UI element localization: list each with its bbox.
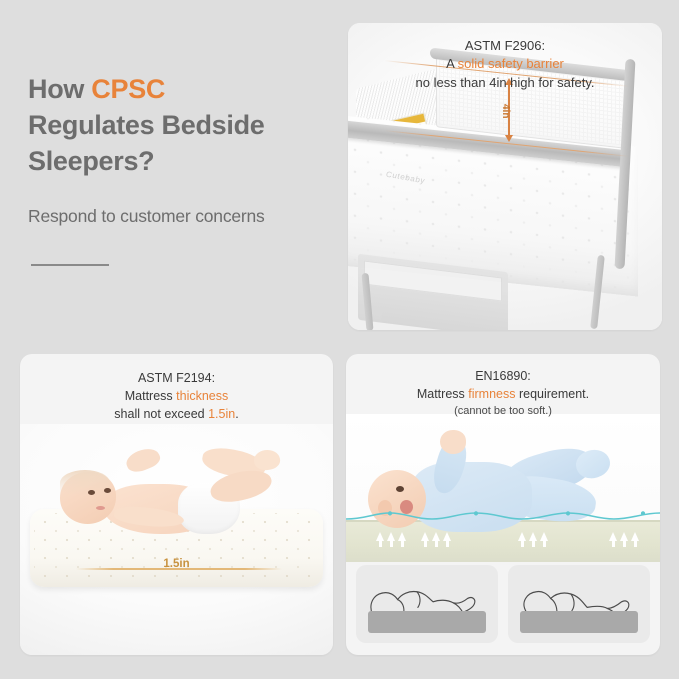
baby-eye — [396, 486, 404, 492]
arrow-up-icon — [620, 532, 628, 541]
firmness-caption-line-2: Mattress firmness requirement. — [346, 386, 660, 404]
thickness-standard-code: ASTM F2194: — [20, 370, 333, 388]
arrow-up-icon — [529, 532, 537, 541]
title-divider — [31, 264, 109, 266]
inset-firm-mattress-correct — [356, 565, 498, 643]
page-title: How CPSC Regulates Bedside Sleepers? — [28, 72, 328, 180]
arrow-up-icon — [540, 532, 548, 541]
firmness-line2-prefix: Mattress — [417, 387, 468, 401]
support-arrow-group — [376, 532, 406, 541]
panel-safety-barrier: Cutebaby 4in ASTM F2906: A solid safety … — [348, 23, 662, 330]
thickness-caption-line-2: Mattress thickness — [20, 388, 333, 406]
panel-mattress-thickness: 1.5in ASTM F2194: Mattress thickness sha… — [20, 354, 333, 655]
firm-mattress-slab — [368, 611, 486, 633]
arrow-up-icon — [518, 532, 526, 541]
support-arrow-group — [518, 532, 548, 541]
dimension-label-1-5in: 1.5in — [20, 558, 333, 570]
thickness-line3-prefix: shall not exceed — [114, 407, 208, 421]
barrier-line2-prefix: A — [446, 56, 458, 71]
barrier-caption: ASTM F2906: A solid safety barrier no le… — [348, 37, 662, 92]
baby-eye-right — [104, 488, 111, 493]
soft-mattress-slab — [520, 611, 638, 633]
title-line-1-prefix: How — [28, 74, 91, 104]
mattress-firmness-photo — [346, 414, 660, 562]
baby-hair — [60, 470, 110, 496]
dimension-label-4in: 4in — [500, 104, 511, 118]
arrow-up-icon — [387, 532, 395, 541]
baby-fist — [440, 430, 466, 454]
firmness-caption-line-3: (cannot be too soft.) — [346, 404, 660, 420]
thickness-line2-prefix: Mattress — [125, 389, 176, 403]
firmness-standard-code: EN16890: — [346, 368, 660, 386]
thickness-line2-accent: thickness — [176, 389, 228, 403]
arrow-up-icon — [432, 532, 440, 541]
barrier-standard-code: ASTM F2906: — [348, 37, 662, 55]
inset-soft-mattress-incorrect — [508, 565, 650, 643]
arrow-up-icon — [631, 532, 639, 541]
arrow-up-icon — [609, 532, 617, 541]
title-line-2: Regulates Bedside — [28, 110, 264, 140]
arrow-up-icon — [376, 532, 384, 541]
page-subtitle: Respond to customer concerns — [28, 206, 328, 227]
barrier-caption-line-2: A solid safety barrier — [348, 55, 662, 73]
headline-block: How CPSC Regulates Bedside Sleepers? Res… — [28, 72, 328, 266]
support-wave-line — [346, 510, 660, 526]
baby-lying-illustration — [52, 446, 282, 541]
thickness-line3-accent: 1.5in — [208, 407, 235, 421]
support-arrow-group — [609, 532, 639, 541]
support-arrow-group — [421, 532, 451, 541]
baby-arm-raised — [123, 444, 162, 475]
arrow-down-icon — [505, 135, 513, 142]
title-line-3: Sleepers? — [28, 146, 154, 176]
barrier-line2-accent: solid safety barrier — [458, 56, 564, 71]
thickness-caption: ASTM F2194: Mattress thickness shall not… — [20, 370, 333, 423]
comparison-inset-row — [356, 565, 650, 643]
firmness-line2-accent: firmness — [468, 387, 515, 401]
panel-mattress-firmness: EN16890: Mattress firmness requirement. … — [346, 354, 660, 655]
support-arrows-row — [346, 532, 660, 554]
thickness-caption-line-3: shall not exceed 1.5in. — [20, 406, 333, 424]
title-accent-cpsc: CPSC — [91, 74, 165, 104]
arrow-up-icon — [443, 532, 451, 541]
arrow-up-icon — [421, 532, 429, 541]
thickness-line3-suffix: . — [235, 407, 238, 421]
barrier-caption-line-3: no less than 4in high for safety. — [348, 74, 662, 92]
arrow-up-icon — [398, 532, 406, 541]
baby-mouth — [96, 506, 105, 510]
firmness-line2-suffix: requirement. — [515, 387, 589, 401]
baby-eye-left — [88, 490, 95, 495]
firmness-caption: EN16890: Mattress firmness requirement. … — [346, 368, 660, 419]
